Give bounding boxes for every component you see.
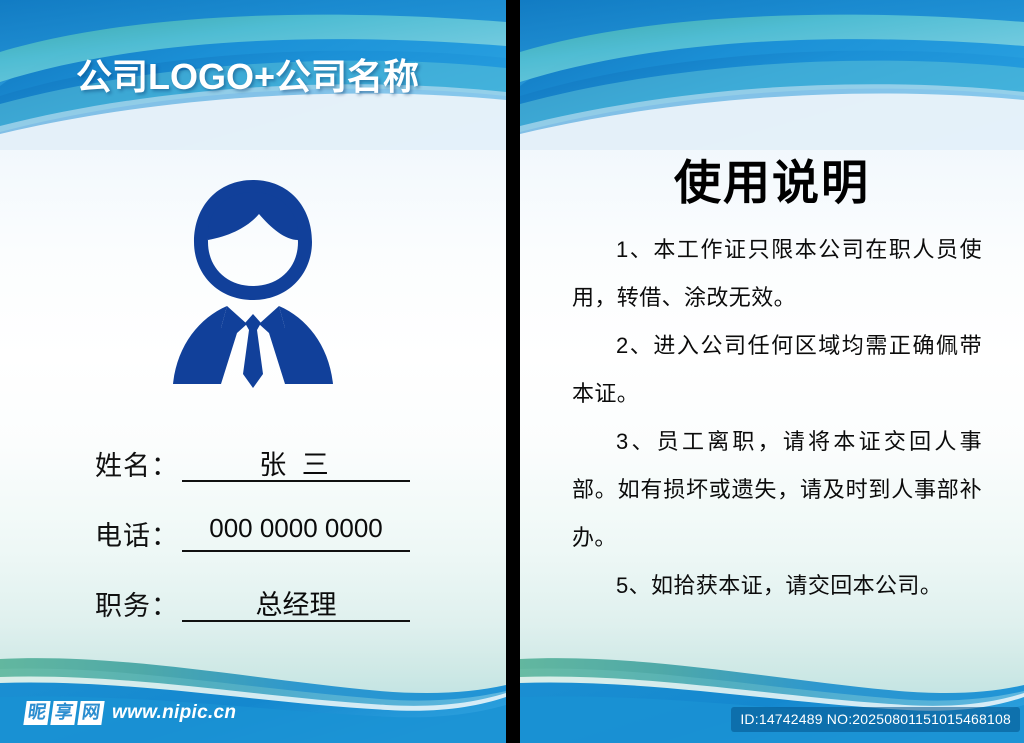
field-label-position: 职务： <box>95 584 179 623</box>
notice-item: 5、如拾获本证，请交回本公司。 <box>572 562 982 610</box>
wm-glyph-1: 昵 <box>23 701 50 725</box>
poster-canvas: 公司LOGO+公司名称 姓名： 张 三 <box>0 0 1024 743</box>
watermark-url: www.nipic.cn <box>112 702 236 724</box>
id-card-front: 公司LOGO+公司名称 姓名： 张 三 <box>0 0 506 743</box>
employee-avatar-icon <box>163 178 343 393</box>
page-title: 公司LOGO+公司名称 <box>76 48 419 100</box>
nipic-logo-icon: 昵 享 网 <box>25 701 103 725</box>
field-row-phone: 电话： 000 0000 0000 <box>0 510 506 580</box>
field-label-name: 姓名： <box>95 444 179 483</box>
header-wave-decoration <box>520 0 1024 150</box>
wm-glyph-2: 享 <box>50 701 77 725</box>
watermark: 昵 享 网 www.nipic.cn <box>25 701 236 725</box>
wm-glyph-3: 网 <box>77 701 104 725</box>
field-value-phone: 000 0000 0000 <box>182 513 410 544</box>
notice-item: 3、员工离职，请将本证交回人事部。如有损坏或遗失，请及时到人事部补办。 <box>572 418 982 562</box>
employee-fields: 姓名： 张 三 电话： 000 0000 0000 职务： 总经理 <box>0 440 506 650</box>
field-value-name: 张 三 <box>182 443 410 482</box>
notice-title: 使用说明 <box>520 144 1024 213</box>
field-row-name: 姓名： 张 三 <box>0 440 506 510</box>
asset-id-badge: ID:14742489 NO:20250801151015468108 <box>731 707 1020 732</box>
field-label-phone: 电话： <box>95 514 179 553</box>
field-value-position: 总经理 <box>182 583 410 622</box>
id-card-back: 使用说明 1、本工作证只限本公司在职人员使用，转借、涂改无效。 2、进入公司任何… <box>520 0 1024 743</box>
notice-item: 1、本工作证只限本公司在职人员使用，转借、涂改无效。 <box>572 226 982 322</box>
notice-list: 1、本工作证只限本公司在职人员使用，转借、涂改无效。 2、进入公司任何区域均需正… <box>572 226 982 610</box>
notice-item: 2、进入公司任何区域均需正确佩带本证。 <box>572 322 982 418</box>
field-row-position: 职务： 总经理 <box>0 580 506 650</box>
card-divider <box>506 0 520 743</box>
